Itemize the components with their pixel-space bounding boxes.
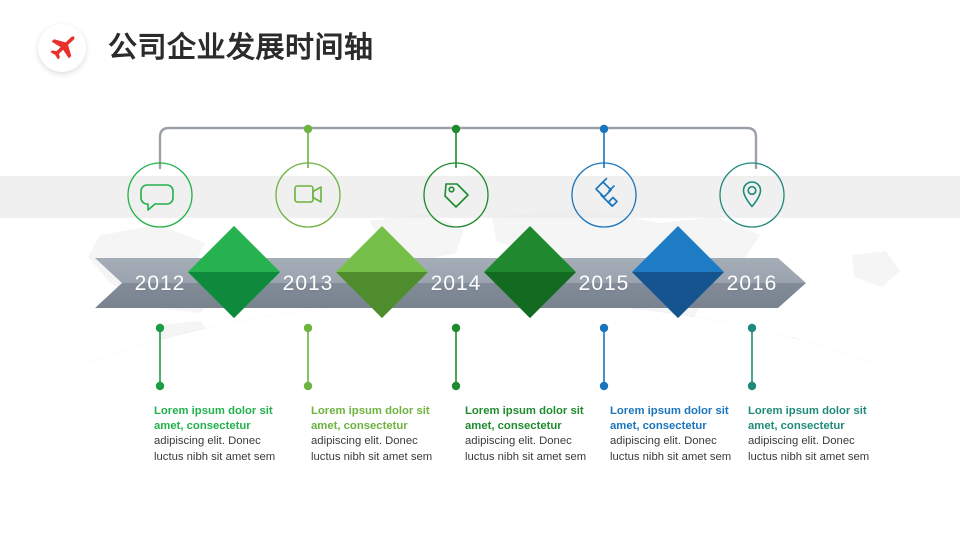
year-label-2013: 2013 bbox=[283, 272, 334, 296]
description-lead: Lorem ipsum dolor sit amet, consectetur bbox=[748, 404, 886, 434]
bottom-stem-2013 bbox=[304, 324, 312, 390]
bottom-stem-2014 bbox=[452, 324, 460, 390]
top-bracket bbox=[160, 128, 756, 168]
icon-circle-2016[interactable] bbox=[720, 163, 784, 227]
description-block-2015: Lorem ipsum dolor sit amet, consectetur … bbox=[610, 404, 748, 465]
description-body: adipiscing elit. Donec luctus nibh sit a… bbox=[610, 434, 748, 464]
year-label-2015: 2015 bbox=[579, 272, 630, 296]
icon-circle-2015[interactable] bbox=[572, 163, 636, 227]
description-lead: Lorem ipsum dolor sit amet, consectetur bbox=[311, 404, 449, 434]
description-body: adipiscing elit. Donec luctus nibh sit a… bbox=[748, 434, 886, 464]
description-block-2016: Lorem ipsum dolor sit amet, consectetur … bbox=[748, 404, 886, 465]
speech-bubble-icon bbox=[141, 185, 173, 210]
icon-circle-2014[interactable] bbox=[424, 163, 488, 227]
bracket-stem-2014 bbox=[452, 125, 460, 168]
bottom-stem-2015 bbox=[600, 324, 608, 390]
icon-circle-2012[interactable] bbox=[128, 163, 192, 227]
slide-canvas: 公司企业发展时间轴 bbox=[0, 0, 960, 540]
description-block-2013: Lorem ipsum dolor sit amet, consectetur … bbox=[311, 404, 449, 465]
video-camera-icon bbox=[295, 186, 321, 202]
icon-circle-2013[interactable] bbox=[276, 163, 340, 227]
description-body: adipiscing elit. Donec luctus nibh sit a… bbox=[154, 434, 292, 464]
bracket-stem-2013 bbox=[304, 125, 312, 168]
description-block-2014: Lorem ipsum dolor sit amet, consectetur … bbox=[465, 404, 603, 465]
bottom-stem-2016 bbox=[748, 324, 756, 390]
description-body: adipiscing elit. Donec luctus nibh sit a… bbox=[465, 434, 603, 464]
year-label-2016: 2016 bbox=[727, 272, 778, 296]
gavel-icon bbox=[596, 179, 617, 207]
description-block-2012: Lorem ipsum dolor sit amet, consectetur … bbox=[154, 404, 292, 465]
map-pin-icon bbox=[744, 182, 761, 207]
description-lead: Lorem ipsum dolor sit amet, consectetur bbox=[154, 404, 292, 434]
bracket-stem-2015 bbox=[600, 125, 608, 168]
price-tag-icon bbox=[445, 184, 468, 207]
description-lead: Lorem ipsum dolor sit amet, consectetur bbox=[610, 404, 748, 434]
bottom-stem-2012 bbox=[156, 324, 164, 390]
description-lead: Lorem ipsum dolor sit amet, consectetur bbox=[465, 404, 603, 434]
year-label-2014: 2014 bbox=[431, 272, 482, 296]
description-body: adipiscing elit. Donec luctus nibh sit a… bbox=[311, 434, 449, 464]
year-label-2012: 2012 bbox=[135, 272, 186, 296]
